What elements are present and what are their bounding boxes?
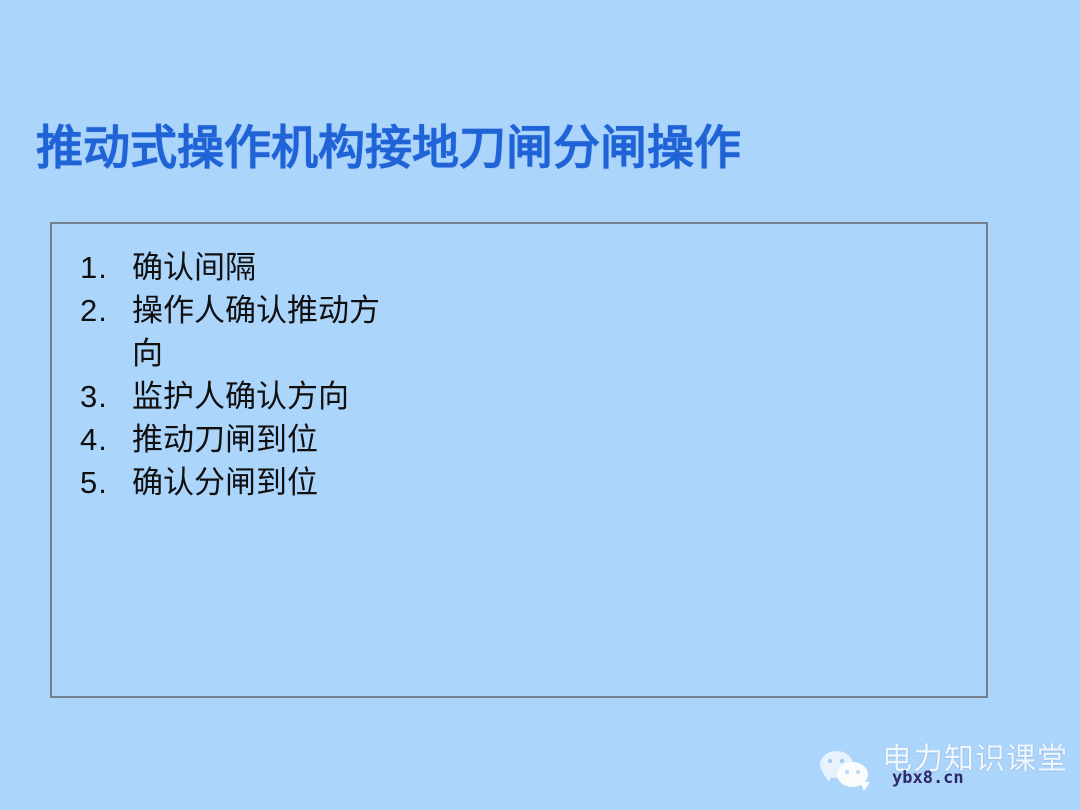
list-item: 2. 操作人确认推动方向 (80, 289, 976, 375)
list-item-number: 1. (80, 246, 132, 289)
list-item: 1. 确认间隔 (80, 246, 976, 289)
page-title: 推动式操作机构接地刀闸分闸操作 (36, 119, 1016, 177)
list-item: 5. 确认分闸到位 (80, 461, 976, 504)
slide-canvas: 推动式操作机构接地刀闸分闸操作 1. 确认间隔 2. 操作人确认推动方向 3. … (0, 0, 1080, 810)
list-item-number: 2. (80, 289, 132, 332)
list-item-number: 3. (80, 375, 132, 418)
list-item-label: 操作人确认推动方向 (132, 289, 402, 375)
list-item-label: 推动刀闸到位 (132, 418, 318, 461)
content-box: 1. 确认间隔 2. 操作人确认推动方向 3. 监护人确认方向 4. 推动刀闸到… (50, 222, 988, 698)
watermark-text: 电力知识课堂 ybx8.cn (882, 743, 1072, 799)
watermark: 电力知识课堂 ybx8.cn (820, 740, 1072, 802)
list-item-label: 确认分闸到位 (132, 461, 318, 504)
list-item-label: 确认间隔 (132, 246, 256, 289)
list-item-number: 4. (80, 418, 132, 461)
list-item: 3. 监护人确认方向 (80, 375, 976, 418)
list-item-number: 5. (80, 461, 132, 504)
list-item-label: 监护人确认方向 (132, 375, 349, 418)
wechat-icon (820, 749, 874, 793)
watermark-url: ybx8.cn (892, 769, 964, 788)
step-list: 1. 确认间隔 2. 操作人确认推动方向 3. 监护人确认方向 4. 推动刀闸到… (80, 246, 976, 504)
list-item: 4. 推动刀闸到位 (80, 418, 976, 461)
